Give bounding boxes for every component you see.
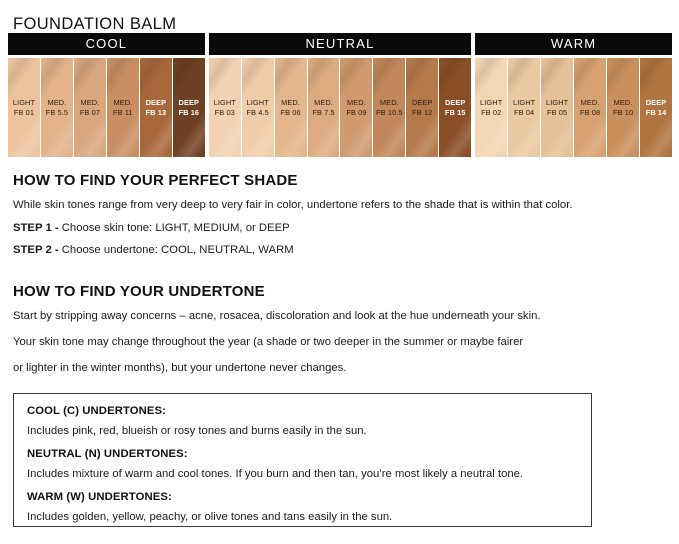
swatch-label: MED.FB 06 [280, 98, 300, 117]
swatch-label: MED.FB 5.5 [46, 98, 68, 117]
swatch-tone: MED. [312, 98, 334, 107]
shade-swatch[interactable]: MED.FB 10.5 [373, 58, 405, 157]
undertone-intro-section: HOW TO FIND YOUR UNDERTONE Start by stri… [13, 283, 668, 384]
shade-swatch[interactable]: DEEPFB 16 [173, 58, 205, 157]
shade-swatch[interactable]: DEEPFB 13 [140, 58, 172, 157]
undertone-entry-description: Includes mixture of warm and cool tones.… [27, 467, 578, 481]
group-header-neutral: NEUTRAL [209, 33, 471, 55]
step-2-text: Choose undertone: COOL, NEUTRAL, WARM [59, 244, 294, 256]
swatch-row-neutral: LIGHTFB 03LIGHTFB 4.5MED.FB 06MED.FB 7.5… [209, 55, 471, 157]
swatch-tone: DEEP [412, 98, 433, 107]
shade-swatch[interactable]: LIGHTFB 02 [475, 58, 507, 157]
swatch-label: LIGHTFB 4.5 [246, 98, 268, 117]
undertone-heading: HOW TO FIND YOUR UNDERTONE [13, 283, 668, 300]
shade-swatch[interactable]: DEEPFB 14 [640, 58, 672, 157]
swatch-tone: MED. [346, 98, 366, 107]
swatch-label: MED.FB 7.5 [312, 98, 334, 117]
swatch-code: FB 14 [646, 108, 667, 117]
swatch-label: MED.FB 09 [346, 98, 366, 117]
swatch-tone: MED. [113, 98, 133, 107]
swatch-tone: LIGHT [13, 98, 35, 107]
undertone-line-3: or lighter in the winter months), but yo… [13, 361, 668, 375]
undertone-line-1: Start by stripping away concerns – acne,… [13, 309, 668, 323]
shade-swatch[interactable]: MED.FB 10 [607, 58, 639, 157]
shade-group-warm: WARMLIGHTFB 02LIGHTFB 04LIGHTFB 05MED.FB… [475, 33, 672, 157]
swatch-label: MED.FB 11 [113, 98, 133, 117]
undertone-entry-title: COOL (C) UNDERTONES: [27, 405, 578, 417]
swatch-code: FB 07 [80, 108, 100, 117]
step-2-line: STEP 2 - Choose undertone: COOL, NEUTRAL… [13, 243, 668, 257]
shade-group-cool: COOLLIGHTFB 01MED.FB 5.5MED.FB 07MED.FB … [8, 33, 205, 157]
swatch-label: LIGHTFB 01 [13, 98, 35, 117]
swatch-tone: MED. [80, 98, 100, 107]
swatch-tone: LIGHT [513, 98, 535, 107]
shade-swatch[interactable]: MED.FB 08 [574, 58, 606, 157]
undertone-entry-description: Includes golden, yellow, peachy, or oliv… [27, 510, 578, 524]
step-1-line: STEP 1 - Choose skin tone: LIGHT, MEDIUM… [13, 221, 668, 235]
shade-swatch[interactable]: MED.FB 11 [107, 58, 139, 157]
swatch-label: DEEPFB 13 [146, 98, 167, 117]
swatch-label: LIGHTFB 02 [480, 98, 502, 117]
swatch-label: LIGHTFB 05 [546, 98, 568, 117]
swatch-row-warm: LIGHTFB 02LIGHTFB 04LIGHTFB 05MED.FB 08M… [475, 55, 672, 157]
swatch-label: LIGHTFB 03 [214, 98, 236, 117]
shade-swatch[interactable]: DEEPFB 12 [406, 58, 438, 157]
shade-swatch[interactable]: LIGHTFB 03 [209, 58, 241, 157]
shade-swatch[interactable]: LIGHTFB 4.5 [242, 58, 274, 157]
shade-swatch[interactable]: LIGHTFB 01 [8, 58, 40, 157]
swatch-code: FB 16 [179, 108, 200, 117]
shade-swatch[interactable]: MED.FB 7.5 [308, 58, 340, 157]
swatch-code: FB 15 [445, 108, 466, 117]
swatch-code: FB 10.5 [376, 108, 403, 117]
swatch-tone: MED. [46, 98, 68, 107]
shade-swatch[interactable]: LIGHTFB 04 [508, 58, 540, 157]
swatch-tone: DEEP [146, 98, 167, 107]
swatch-code: FB 01 [13, 108, 35, 117]
undertone-definitions-box: COOL (C) UNDERTONES:Includes pink, red, … [13, 393, 592, 527]
swatch-code: FB 13 [146, 108, 167, 117]
swatch-label: DEEPFB 15 [445, 98, 466, 117]
shade-group-neutral: NEUTRALLIGHTFB 03LIGHTFB 4.5MED.FB 06MED… [209, 33, 471, 157]
swatch-label: MED.FB 08 [580, 98, 600, 117]
swatch-label: DEEPFB 16 [179, 98, 200, 117]
swatch-code: FB 09 [346, 108, 366, 117]
swatch-tone: DEEP [179, 98, 200, 107]
swatch-tone: LIGHT [214, 98, 236, 107]
shade-swatch[interactable]: MED.FB 06 [275, 58, 307, 157]
swatch-tone: LIGHT [246, 98, 268, 107]
swatch-code: FB 03 [214, 108, 236, 117]
undertone-entry-title: WARM (W) UNDERTONES: [27, 491, 578, 503]
perfect-shade-heading: HOW TO FIND YOUR PERFECT SHADE [13, 172, 668, 189]
step-2-label: STEP 2 - [13, 244, 59, 256]
swatch-tone: MED. [613, 98, 633, 107]
shade-swatch[interactable]: MED.FB 09 [340, 58, 372, 157]
swatch-tone: LIGHT [480, 98, 502, 107]
shade-swatch[interactable]: MED.FB 5.5 [41, 58, 73, 157]
swatch-code: FB 5.5 [46, 108, 68, 117]
swatch-code: FB 4.5 [246, 108, 268, 117]
shade-swatch[interactable]: LIGHTFB 05 [541, 58, 573, 157]
shade-chart: COOLLIGHTFB 01MED.FB 5.5MED.FB 07MED.FB … [8, 33, 672, 157]
swatch-code: FB 11 [113, 108, 133, 117]
swatch-label: DEEPFB 14 [646, 98, 667, 117]
swatch-code: FB 7.5 [312, 108, 334, 117]
swatch-label: DEEPFB 12 [412, 98, 433, 117]
swatch-tone: MED. [376, 98, 403, 107]
swatch-label: MED.FB 10 [613, 98, 633, 117]
page-title: FOUNDATION BALM [13, 15, 176, 34]
swatch-label: MED.FB 10.5 [376, 98, 403, 117]
swatch-label: LIGHTFB 04 [513, 98, 535, 117]
swatch-code: FB 12 [412, 108, 433, 117]
group-header-cool: COOL [8, 33, 205, 55]
swatch-tone: DEEP [445, 98, 466, 107]
step-1-label: STEP 1 - [13, 222, 59, 234]
swatch-tone: LIGHT [546, 98, 568, 107]
shade-swatch[interactable]: MED.FB 07 [74, 58, 106, 157]
step-1-text: Choose skin tone: LIGHT, MEDIUM, or DEEP [59, 222, 290, 234]
swatch-code: FB 08 [580, 108, 600, 117]
swatch-tone: MED. [280, 98, 300, 107]
swatch-row-cool: LIGHTFB 01MED.FB 5.5MED.FB 07MED.FB 11DE… [8, 55, 205, 157]
swatch-tone: DEEP [646, 98, 667, 107]
swatch-label: MED.FB 07 [80, 98, 100, 117]
shade-swatch[interactable]: DEEPFB 15 [439, 58, 471, 157]
swatch-code: FB 06 [280, 108, 300, 117]
swatch-tone: MED. [580, 98, 600, 107]
swatch-code: FB 05 [546, 108, 568, 117]
undertone-entry-description: Includes pink, red, blueish or rosy tone… [27, 424, 578, 438]
shade-finder-page: FOUNDATION BALM COOLLIGHTFB 01MED.FB 5.5… [0, 0, 679, 544]
swatch-code: FB 04 [513, 108, 535, 117]
perfect-shade-intro: While skin tones range from very deep to… [13, 198, 668, 212]
undertone-line-2: Your skin tone may change throughout the… [13, 335, 668, 349]
perfect-shade-section: HOW TO FIND YOUR PERFECT SHADE While ski… [13, 172, 668, 265]
swatch-code: FB 10 [613, 108, 633, 117]
swatch-code: FB 02 [480, 108, 502, 117]
undertone-entry-title: NEUTRAL (N) UNDERTONES: [27, 448, 578, 460]
group-header-warm: WARM [475, 33, 672, 55]
